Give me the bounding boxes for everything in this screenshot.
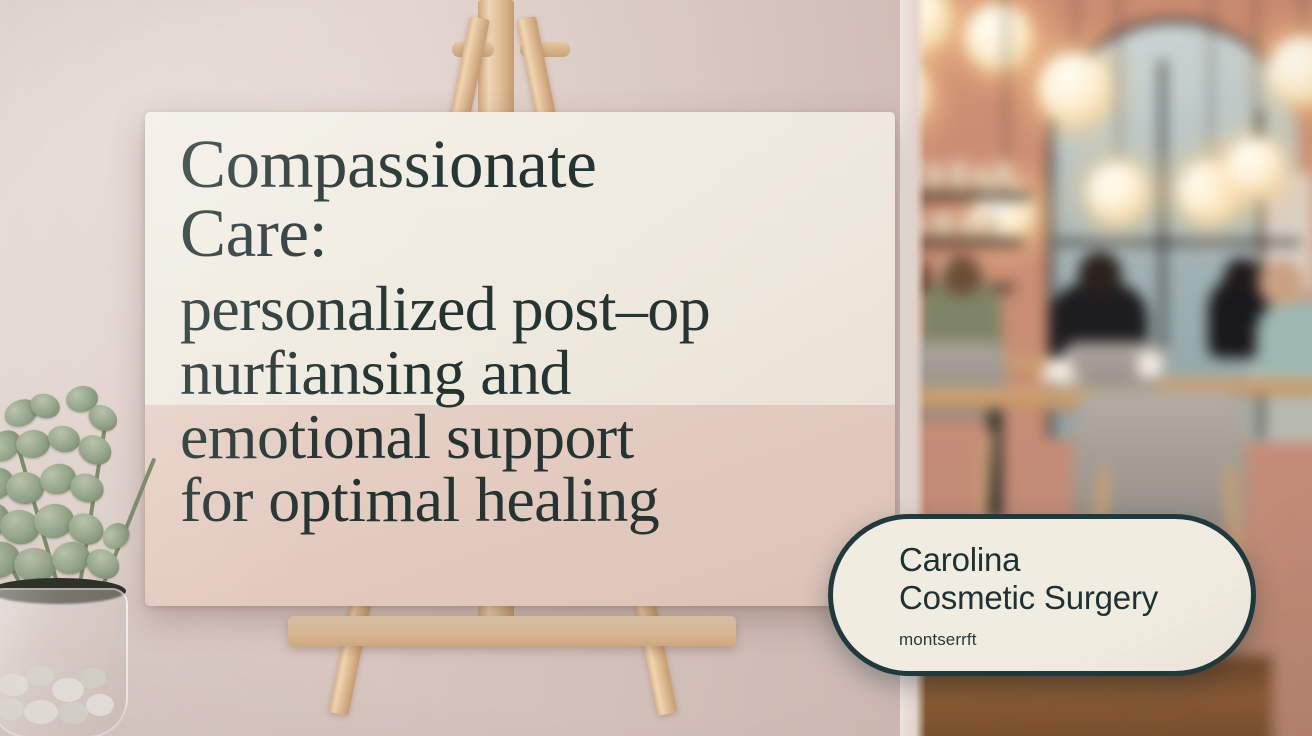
pendant-light: [965, 4, 1033, 72]
lamp-cord: [1118, 0, 1120, 170]
pebble: [52, 678, 84, 702]
lamp-cord: [1210, 0, 1212, 168]
brand-badge[interactable]: Carolina Cosmetic Surgery montserrft: [828, 514, 1256, 676]
pebble: [0, 698, 24, 720]
pebble: [24, 700, 58, 724]
jar: [928, 164, 943, 192]
pebble: [26, 666, 54, 686]
badge-title-line-2: Cosmetic Surgery: [899, 579, 1231, 617]
jar: [934, 212, 951, 238]
pebble: [86, 694, 114, 716]
window-mullion: [1055, 240, 1300, 245]
badge-subtitle: montserrft: [899, 630, 1231, 650]
plant-leaf: [73, 430, 116, 471]
cup: [1138, 352, 1162, 378]
pendant-light: [1225, 138, 1285, 198]
jar: [982, 211, 998, 238]
easel-tray: [288, 616, 736, 646]
pebble: [58, 702, 88, 724]
pendant-light: [1038, 52, 1112, 126]
lamp-cord: [1255, 0, 1257, 146]
canvas-gloss-overlay: [145, 112, 895, 606]
jar: [974, 167, 988, 192]
lamp-cord: [1075, 0, 1077, 60]
jar: [995, 163, 1011, 192]
patron-head: [1258, 260, 1304, 306]
cafe-patron: [1256, 300, 1312, 386]
pebble: [80, 668, 106, 688]
cup: [1046, 358, 1072, 376]
pebble: [0, 674, 28, 696]
badge-content: Carolina Cosmetic Surgery montserrft: [899, 541, 1231, 650]
patron-head: [1078, 252, 1122, 296]
patron-head: [942, 256, 982, 296]
eucalyptus-plant: [0, 392, 160, 736]
vase-pebbles: [0, 664, 116, 728]
jar: [950, 162, 967, 192]
badge-title-line-1: Carolina: [899, 541, 1231, 579]
lamp-cord: [1005, 0, 1007, 190]
patron-head: [1224, 258, 1260, 294]
jar: [960, 215, 974, 238]
poster-canvas[interactable]: Compassionate Care: personalized post–op…: [145, 112, 895, 606]
plant-leaf: [5, 471, 45, 506]
pendant-light: [1087, 162, 1149, 224]
plant-leaf: [46, 423, 83, 455]
poster-scene: Compassionate Care: personalized post–op…: [0, 0, 1312, 736]
